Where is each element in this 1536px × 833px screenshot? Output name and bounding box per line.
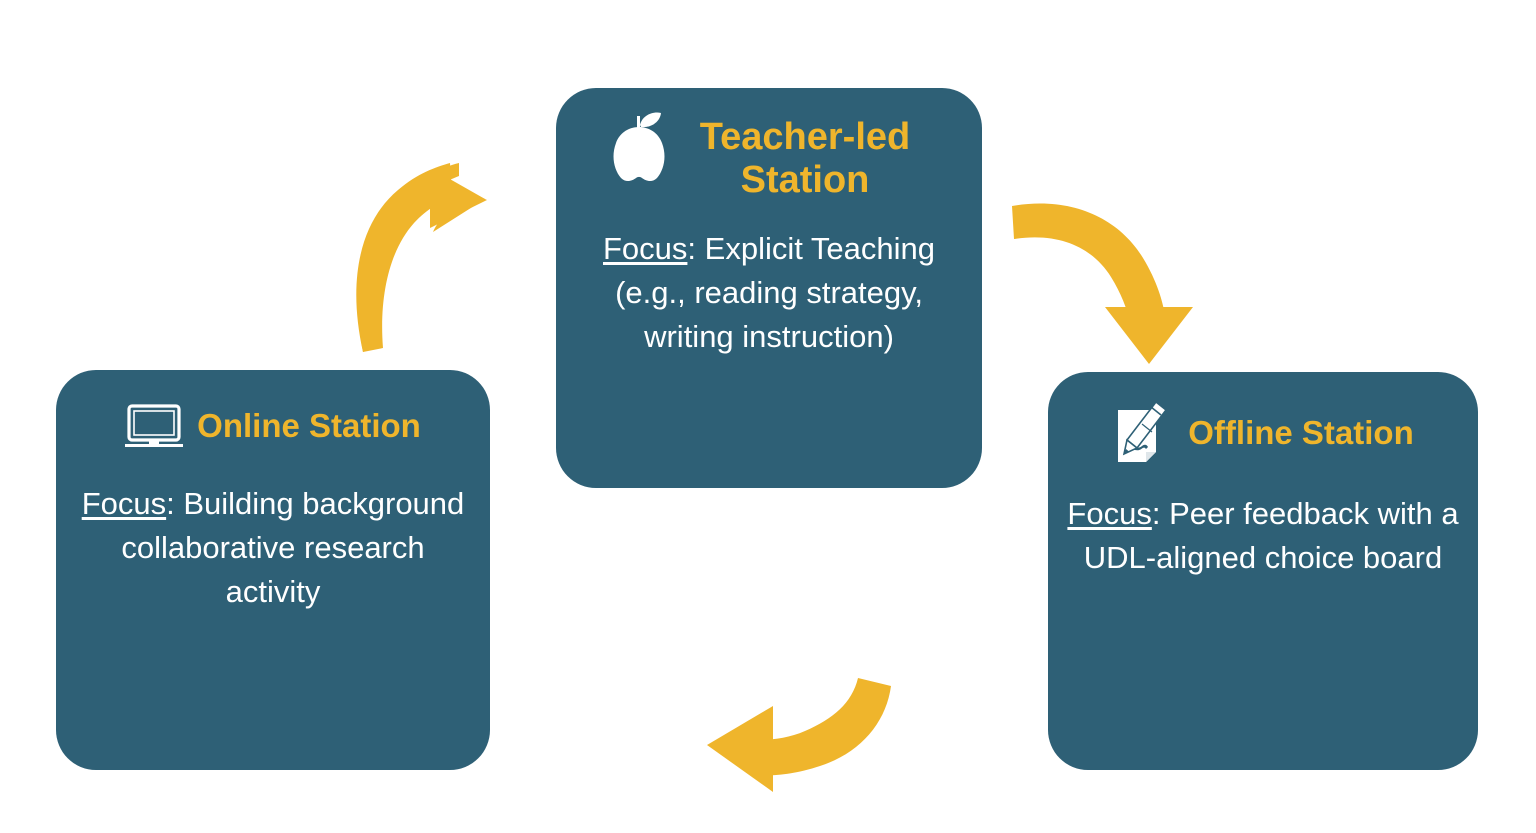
card-header: Teacher-led Station bbox=[582, 110, 956, 201]
focus-label: Focus bbox=[82, 486, 166, 521]
focus-separator: : bbox=[687, 231, 704, 266]
station-card-online[interactable]: Online Station Focus: Building backgroun… bbox=[56, 370, 490, 770]
station-card-offline[interactable]: Offline Station Focus: Peer feedback wit… bbox=[1048, 372, 1478, 770]
station-focus-text: Focus: Peer feedback with a UDL-aligned … bbox=[1066, 492, 1460, 580]
laptop-icon bbox=[125, 404, 183, 448]
station-focus-text: Focus: Building background collaborative… bbox=[74, 482, 472, 614]
card-header: Online Station bbox=[74, 404, 472, 448]
station-title: Teacher-led Station bbox=[680, 116, 930, 201]
arrow-teacher-to-offline bbox=[1012, 204, 1193, 364]
arrow-online-to-teacher bbox=[356, 163, 487, 352]
focus-separator: : bbox=[166, 486, 183, 521]
apple-icon bbox=[608, 110, 670, 182]
note-pencil-icon bbox=[1112, 400, 1174, 466]
card-header: Offline Station bbox=[1066, 400, 1460, 466]
station-title: Online Station bbox=[197, 408, 421, 445]
station-card-teacher-led[interactable]: Teacher-led Station Focus: Explicit Teac… bbox=[556, 88, 982, 488]
focus-label: Focus bbox=[603, 231, 687, 266]
arrow-offline-to-online bbox=[707, 678, 891, 792]
focus-label: Focus bbox=[1067, 496, 1151, 531]
station-focus-text: Focus: Explicit Teaching (e.g., reading … bbox=[574, 227, 964, 359]
focus-separator: : bbox=[1152, 496, 1169, 531]
diagram-canvas: Online Station Focus: Building backgroun… bbox=[0, 0, 1536, 833]
station-title: Offline Station bbox=[1188, 415, 1414, 452]
